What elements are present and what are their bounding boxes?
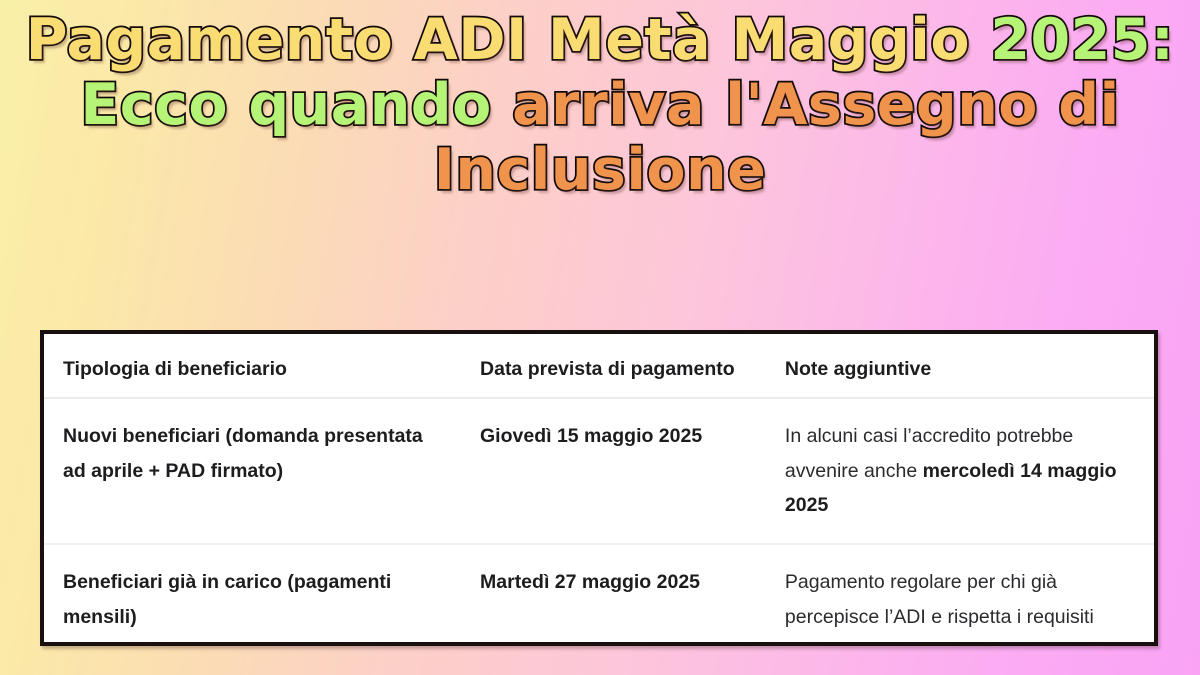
table-body: Nuovi beneficiari (domanda presentata ad… [44,398,1154,655]
cell-beneficiary-type: Nuovi beneficiari (domanda presentata ad… [44,398,468,544]
table-header: Tipologia di beneficiario Data prevista … [44,334,1154,398]
page-title-line-3: Inclusione [0,138,1200,203]
page-title-line-1: Pagamento ADI Metà Maggio 2025: [0,8,1200,73]
payment-schedule-table-container: Tipologia di beneficiario Data prevista … [40,330,1158,646]
page-title-segment: Ecco quando [80,72,512,138]
cell-additional-notes: Pagamento regolare per chi già percepisc… [770,544,1154,654]
column-header-additional-notes: Note aggiuntive [770,334,1154,398]
cell-additional-notes: In alcuni casi l’accredito potrebbe avve… [770,398,1154,544]
page-title-segment: 2025: [990,7,1174,73]
page-title: Pagamento ADI Metà Maggio 2025: Ecco qua… [0,8,1200,203]
page-title-segment: Pagamento ADI Metà Maggio [26,7,991,73]
table-row: Beneficiari già in carico (pagamenti men… [44,544,1154,654]
payment-schedule-table: Tipologia di beneficiario Data prevista … [44,334,1154,655]
page-title-segment: arriva l'Assegno di [512,72,1120,138]
page-title-segment: Inclusione [434,137,767,203]
cell-beneficiary-type: Beneficiari già in carico (pagamenti men… [44,544,468,654]
page-title-line-2: Ecco quando arriva l'Assegno di [0,73,1200,138]
table-row: Nuovi beneficiari (domanda presentata ad… [44,398,1154,544]
table-header-row: Tipologia di beneficiario Data prevista … [44,334,1154,398]
column-header-beneficiary-type: Tipologia di beneficiario [44,334,468,398]
column-header-expected-payment-date: Data prevista di pagamento [468,334,770,398]
cell-payment-date: Giovedì 15 maggio 2025 [468,398,770,544]
note-text-regular: Pagamento regolare per chi già percepisc… [785,571,1094,628]
cell-payment-date: Martedì 27 maggio 2025 [468,544,770,654]
